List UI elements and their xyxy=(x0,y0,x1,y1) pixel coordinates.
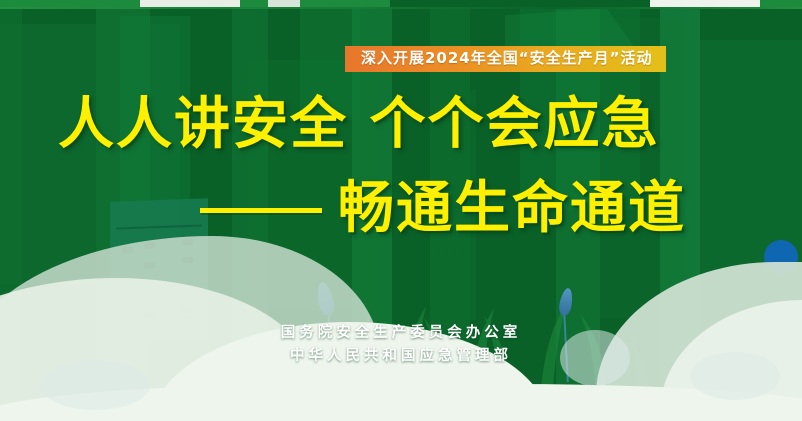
poster-canvas: 深入开展2024年全国“安全生产月”活动 人人讲安全 个个会应急 畅通生命通道 … xyxy=(0,0,802,421)
headline-line-1: 人人讲安全 个个会应急 xyxy=(58,97,660,153)
issuer-block: 国务院安全生产委员会办公室 中华人民共和国应急管理部 xyxy=(0,322,802,369)
poster-content: 深入开展2024年全国“安全生产月”活动 人人讲安全 个个会应急 畅通生命通道 … xyxy=(0,0,802,421)
headline-line-2: 畅通生命通道 xyxy=(338,181,686,237)
campaign-ribbon-banner: 深入开展2024年全国“安全生产月”活动 xyxy=(345,46,666,72)
issuer-line-2: 中华人民共和国应急管理部 xyxy=(0,345,802,368)
issuer-line-1: 国务院安全生产委员会办公室 xyxy=(0,322,802,345)
headline-divider-rule xyxy=(200,208,322,213)
